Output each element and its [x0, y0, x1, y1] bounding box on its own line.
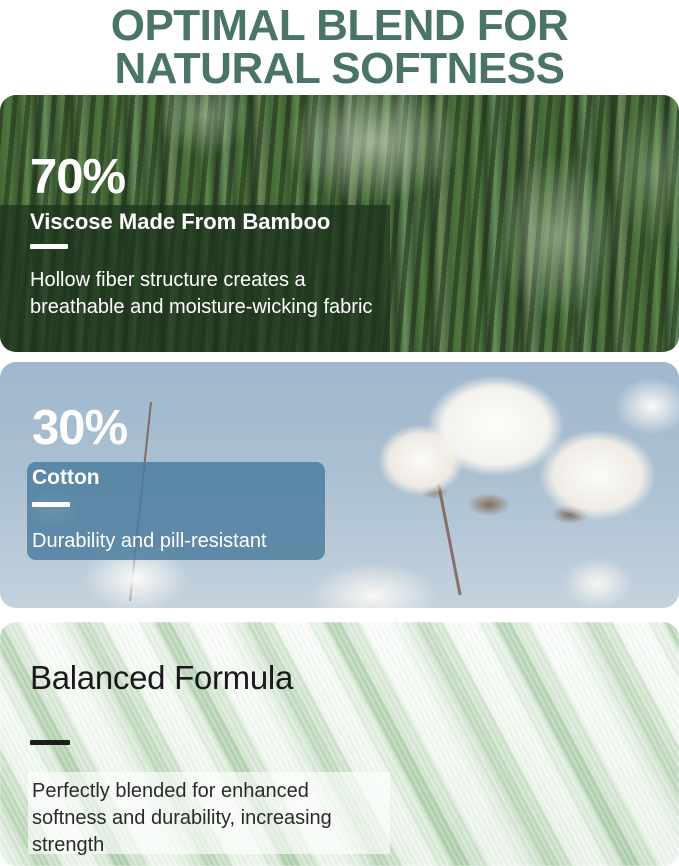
- bamboo-subtitle: Viscose Made From Bamboo: [30, 210, 330, 234]
- page-title-line-1: OPTIMAL BLEND FOR: [0, 4, 679, 47]
- page-title: OPTIMAL BLEND FOR NATURAL SOFTNESS: [0, 0, 679, 90]
- cotton-body-text: Durability and pill-resistant: [32, 528, 322, 555]
- bamboo-percent: 70%: [30, 153, 125, 202]
- panel-cotton: 30% Cotton Durability and pill-resistant: [0, 362, 679, 608]
- page-title-line-2: NATURAL SOFTNESS: [0, 47, 679, 90]
- cotton-divider-rule: [32, 502, 70, 507]
- fabric-divider-rule: [30, 740, 70, 745]
- fabric-body-text: Perfectly blended for enhanced softness …: [32, 778, 388, 859]
- panel-fabric: Balanced Formula Perfectly blended for e…: [0, 622, 679, 866]
- cotton-subtitle: Cotton: [32, 466, 100, 489]
- bamboo-content: 70% Viscose Made From Bamboo Hollow fibe…: [0, 95, 679, 352]
- fabric-content: Balanced Formula Perfectly blended for e…: [0, 622, 679, 866]
- cotton-content: 30% Cotton Durability and pill-resistant: [0, 362, 679, 608]
- bamboo-divider-rule: [30, 244, 68, 249]
- bamboo-body-text: Hollow fiber structure creates a breatha…: [30, 267, 380, 321]
- cotton-percent: 30%: [32, 404, 127, 453]
- fabric-heading: Balanced Formula: [30, 660, 293, 696]
- panel-bamboo: 70% Viscose Made From Bamboo Hollow fibe…: [0, 95, 679, 352]
